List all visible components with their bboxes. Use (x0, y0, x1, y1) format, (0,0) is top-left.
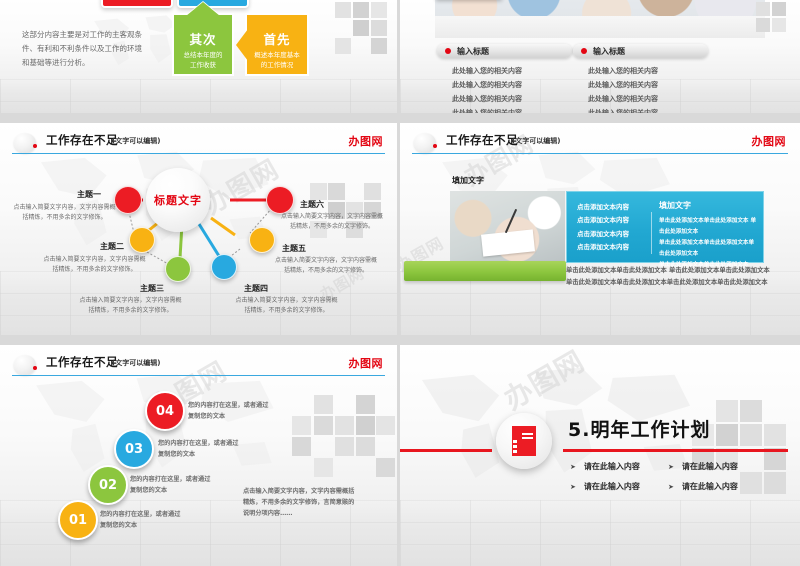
page-subtitle: (文字可以编辑) (512, 136, 560, 146)
list-item: 此处输入您的相关内容 (588, 64, 658, 78)
input-title-bar-left[interactable]: 输入标题 (437, 44, 572, 58)
photo-caption: 填加文字 (452, 175, 484, 186)
radial-node-3-desc: 点击输入简要文字内容，文字内容需概 括精炼，不用多余的文字修饰。 (68, 296, 193, 316)
slide4-footer-text: 单击此处添加文本单击此处添加文本 单击此处添加文本单击此处添加文本 单击此处添加… (566, 265, 794, 289)
slide-5-steps[interactable]: 办图网 工作存在不足 (文字可以编辑) 办图网 04 您的内容打在这里，或者通过… (0, 345, 397, 566)
arrow-up-icon (186, 2, 220, 16)
list-item: 此处输入您的相关内容 (588, 78, 658, 92)
step-number: 01 (69, 513, 87, 528)
step-circle-02[interactable]: 02 (88, 465, 128, 505)
divider (651, 212, 652, 254)
bullet-item-4: 请在此输入内容 (668, 481, 738, 492)
input-title-left-label: 输入标题 (457, 46, 489, 57)
list-item: 单击此处添加文本单击此处添加文本 单击此处添加文本 (659, 216, 757, 238)
slide1-red-card-partial (101, 0, 173, 8)
footer-line: 单击此处添加文本单击此处添加文本 单击此处添加文本单击此处添加文本 (566, 265, 794, 277)
slide4-header: 工作存在不足 (文字可以编辑) 办图网 (400, 133, 800, 155)
slide-grid: 这部分内容主要是对工作的主客观条件、有利和不利条件以及工作的环境和基础等进行分析… (0, 0, 800, 566)
step-text-01: 您的内容打在这里，或者通过 复制您的文本 (100, 510, 200, 532)
blue-left-lines: 点击添加文本内容 点击添加文本内容 点击添加文本内容 点击添加文本内容 (577, 201, 629, 254)
radial-node-4-desc: 点击输入简要文字内容，文字内容需概 括精炼，不用多余的文字修饰。 (224, 296, 349, 316)
right-content-lines: 此处输入您的相关内容 此处输入您的相关内容 此处输入您的相关内容 此处输入您的相… (588, 64, 658, 113)
radial-node-1-desc: 点击输入简要文字内容，文字内容需概 括精炼，不用多余的文字修饰。 (2, 203, 127, 223)
sphere-icon (14, 355, 36, 375)
radial-node-2-desc: 点击输入简要文字内容，文字内容需概 括精炼，不用多余的文字修饰。 (32, 255, 157, 275)
left-content-lines: 此处输入您的相关内容 此处输入您的相关内容 此处输入您的相关内容 此处输入您的相… (452, 64, 522, 113)
slide-2-keyword[interactable]: 关键字 输入标题 输入标题 此处输入您的相关内容 此处输入您的相关内容 此处输入… (400, 0, 800, 113)
bullet-item-2: 请在此输入内容 (668, 461, 738, 472)
slide1-body-text: 这部分内容主要是对工作的主客观条件、有利和不利条件以及工作的环境和基础等进行分析… (22, 28, 147, 70)
list-item: 此处输入您的相关内容 (452, 78, 522, 92)
radial-node-5-desc: 点击输入简要文字内容，文字内容需概 括精炼，不用多余的文字修饰。 (262, 256, 390, 276)
radial-node-2[interactable] (129, 227, 155, 253)
radial-node-3[interactable] (165, 256, 191, 282)
radial-node-2-label: 主题二 (100, 241, 124, 252)
input-title-right-label: 输入标题 (593, 46, 625, 57)
slide-4-photo-text[interactable]: 办图网 办图网 工作存在不足 (文字可以编辑) 办图网 填加文字 点击添加文本内… (400, 123, 800, 335)
radial-node-6[interactable] (266, 186, 294, 214)
bullet-item-1: 请在此输入内容 (570, 461, 640, 472)
slide1-orange-subtitle: 概述本年度基本 的工作情况 (247, 51, 307, 71)
notebook-icon (512, 426, 536, 456)
radial-hub[interactable]: 标题文字 (146, 168, 210, 232)
blue-right-lines: 单击此处添加文本单击此处添加文本 单击此处添加文本 单击此处添加文本单击此处添加… (659, 216, 757, 271)
step-number: 03 (125, 442, 143, 457)
sphere-icon (414, 133, 436, 153)
radial-node-4[interactable] (211, 254, 237, 280)
slide1-orange-title: 首先 (263, 32, 290, 47)
slide5-header: 工作存在不足 (文字可以编辑) 办图网 (0, 355, 397, 377)
list-item: 点击添加文本内容 (577, 214, 629, 227)
list-item: 单击此处添加文本单击此处添加文本单击此处添加文本 (659, 238, 757, 260)
red-rule-right (563, 449, 788, 452)
accent-dot-icon (433, 144, 437, 148)
list-item: 此处输入您的相关内容 (452, 92, 522, 106)
input-title-bar-right[interactable]: 输入标题 (573, 44, 708, 58)
slide1-green-arrow-card[interactable]: 其次 总结本年度的 工作收获 (172, 13, 234, 76)
list-item: 点击添加文本内容 (577, 241, 629, 254)
list-item: 此处输入您的相关内容 (452, 106, 522, 113)
page-subtitle: (文字可以编辑) (112, 358, 160, 368)
list-item: 此处输入您的相关内容 (588, 92, 658, 106)
slide1-green-label: 其次 总结本年度的 工作收获 (174, 29, 232, 71)
header-rule (12, 375, 385, 376)
step-text-02: 您的内容打在这里，或者通过 复制您的文本 (130, 475, 230, 497)
page-title: 工作存在不足 (46, 354, 118, 370)
slide-3-radial-diagram[interactable]: 办图网 办图网 工作存在不足 (文字可以编辑) 办图网 标题文字 (0, 123, 397, 335)
step-text-03: 您的内容打在这里，或者通过 复制您的文本 (158, 439, 258, 461)
step-circle-04[interactable]: 04 (145, 391, 185, 431)
slide-1-overview[interactable]: 这部分内容主要是对工作的主客观条件、有利和不利条件以及工作的环境和基础等进行分析… (0, 0, 397, 113)
bullet-item-3: 请在此输入内容 (570, 481, 640, 492)
slide-6-section-divider[interactable]: 办图网 5.明年工作计划 请在此输入内容 请在此输入内容 请在此 (400, 345, 800, 566)
bullet-dot-icon (445, 48, 451, 54)
radial-node-5-label: 主题五 (282, 243, 306, 254)
green-bar (404, 261, 566, 281)
list-item: 点击添加文本内容 (577, 201, 629, 214)
slide1-orange-arrow-card[interactable]: 首先 概述本年度基本 的工作情况 (245, 13, 309, 76)
header-rule (412, 153, 788, 154)
slide1-green-subtitle: 总结本年度的 工作收获 (174, 51, 232, 71)
radial-node-4-label: 主题四 (244, 283, 268, 294)
accent-dot-icon (33, 366, 37, 370)
blue-right-title: 填加文字 (659, 200, 691, 211)
step-number: 04 (156, 404, 174, 419)
list-item: 此处输入您的相关内容 (588, 106, 658, 113)
step-number: 02 (99, 478, 117, 493)
red-rule-left (400, 449, 492, 452)
radial-node-6-desc: 点击输入简要文字内容，文字内容需概 括精炼，不用多余的文字修饰。 (268, 212, 396, 232)
section-icon-disc (496, 413, 552, 469)
slide1-orange-label: 首先 概述本年度基本 的工作情况 (247, 29, 307, 71)
slide5-footer-text: 点击输入简要文字内容，文字内容需概括 精炼，不用多余的文字修饰，言简意赅的 说明… (243, 487, 393, 520)
radial-node-1-label: 主题一 (77, 189, 101, 200)
bullet-dot-icon (581, 48, 587, 54)
slide-background-floor (400, 500, 800, 566)
slide-background-floor (0, 79, 397, 113)
brand-logo: 办图网 (349, 355, 384, 371)
page-title: 工作存在不足 (446, 132, 518, 148)
brand-logo: 办图网 (752, 133, 787, 149)
blue-content-box: 点击添加文本内容 点击添加文本内容 点击添加文本内容 点击添加文本内容 填加文字… (566, 191, 764, 263)
footer-line: 单击此处添加文本单击此处添加文本单击此处添加文本单击此处添加文本 (566, 277, 794, 289)
list-item: 此处输入您的相关内容 (452, 64, 522, 78)
radial-node-6-label: 主题六 (300, 199, 324, 210)
step-text-04: 您的内容打在这里，或者通过 复制您的文本 (188, 401, 288, 423)
notebook-photo (450, 191, 565, 269)
step-circle-01[interactable]: 01 (58, 500, 98, 540)
list-item: 点击添加文本内容 (577, 228, 629, 241)
radial-node-3-label: 主题三 (140, 283, 164, 294)
section-title: 5.明年工作计划 (568, 415, 710, 442)
hub-label: 标题文字 (154, 192, 202, 208)
team-meeting-photo (435, 0, 765, 38)
step-circle-03[interactable]: 03 (114, 429, 154, 469)
slide1-green-title: 其次 (189, 32, 216, 47)
